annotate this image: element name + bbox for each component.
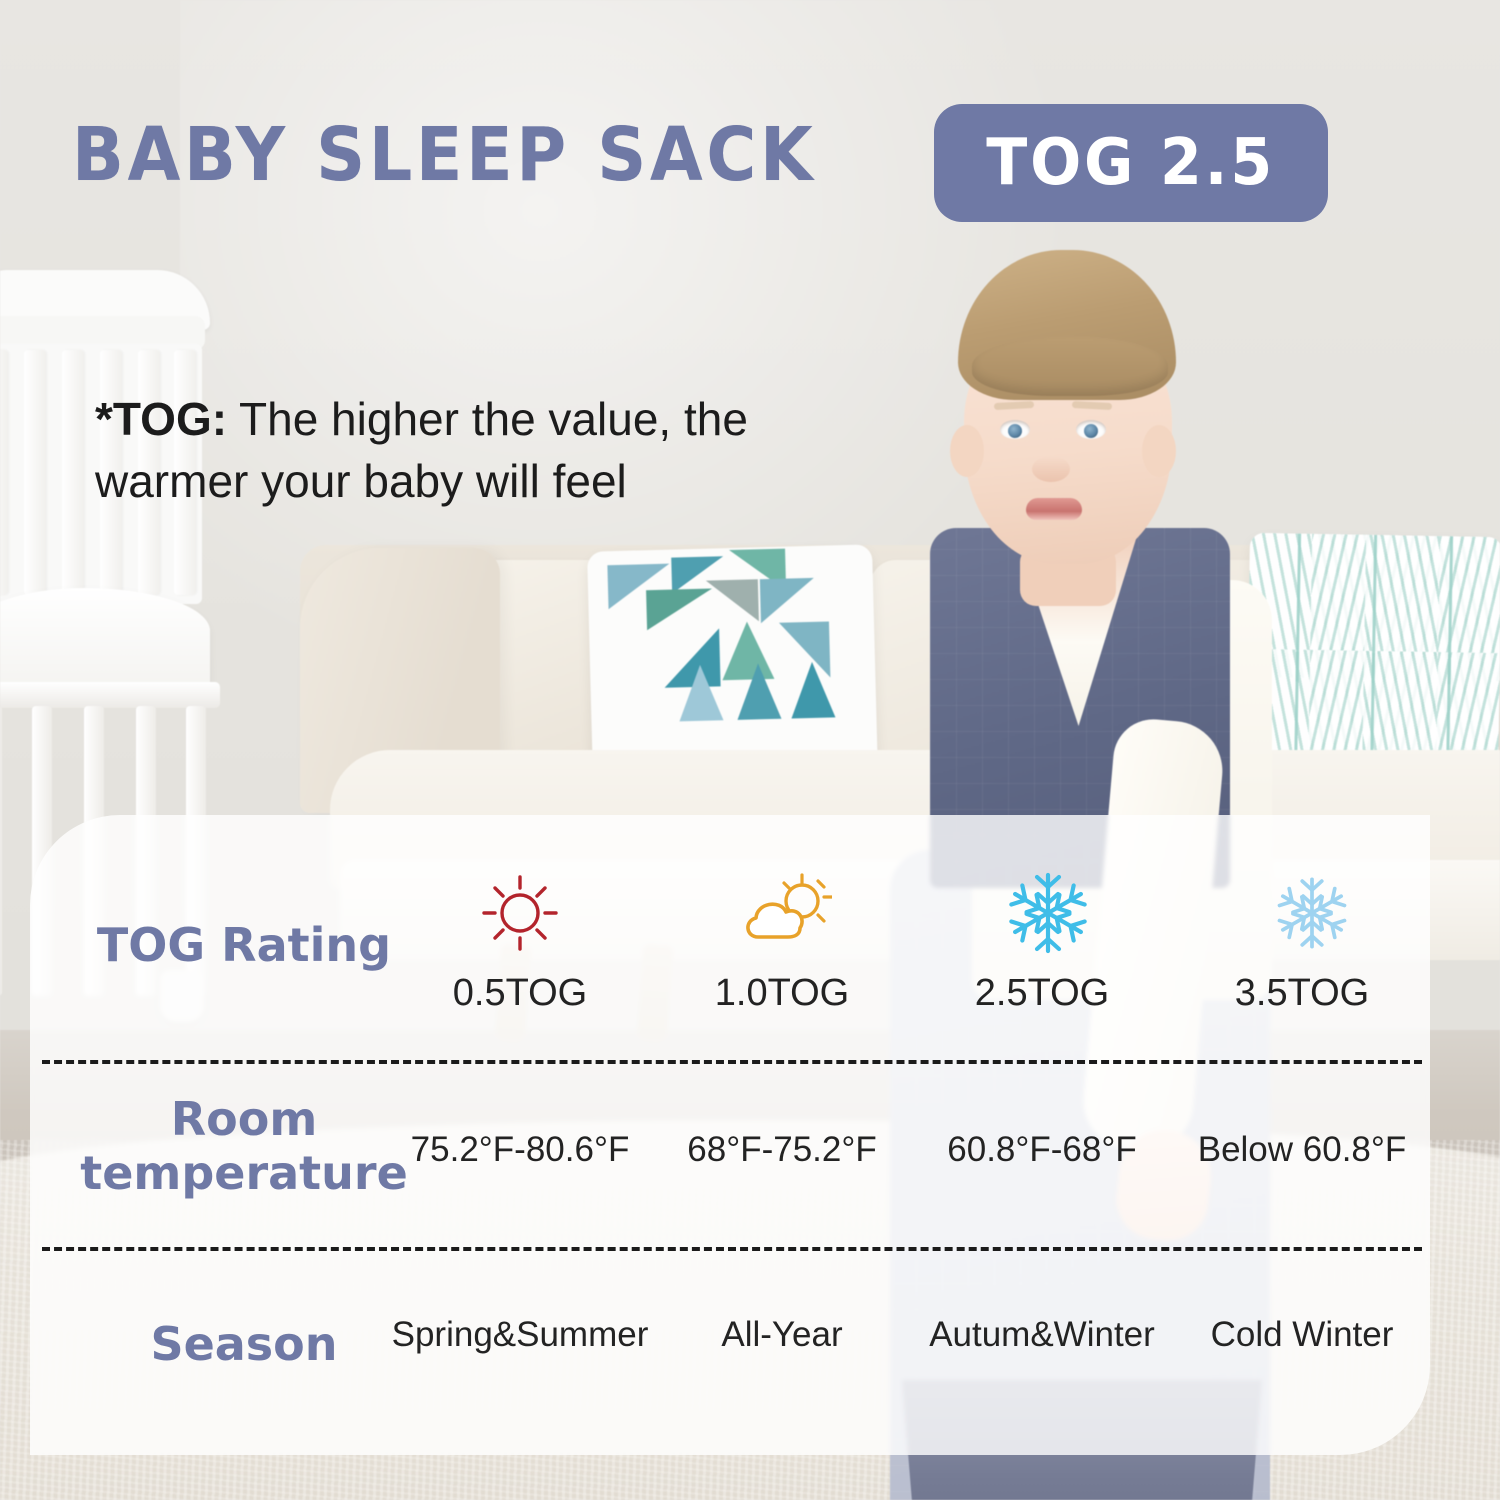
cell-temperature-1: 68°F-75.2°F xyxy=(647,1130,917,1170)
cell-temperature-0: 75.2°F-80.6°F xyxy=(385,1130,655,1170)
cell-season-2: Autum&Winter xyxy=(907,1315,1177,1355)
table-divider xyxy=(42,1060,1422,1064)
tog-description: *TOG: The higher the value, the warmer y… xyxy=(95,388,855,512)
baby-iris xyxy=(1008,424,1022,438)
pillow-triangle xyxy=(760,578,815,623)
cloud-sun-icon xyxy=(736,863,836,963)
crib-slat xyxy=(62,350,84,595)
baby-iris xyxy=(1084,424,1098,438)
page-title: BABY SLEEP SACK xyxy=(72,112,816,198)
cell-tog-0: 0.5TOG xyxy=(405,972,635,1015)
baby-ear xyxy=(1142,425,1176,477)
infographic-canvas: BABY SLEEP SACK TOG 2.5 *TOG: The higher… xyxy=(0,0,1500,1500)
baby-eye xyxy=(1076,420,1106,439)
row-label-room-line2: temperature xyxy=(64,1146,424,1200)
baby-eye xyxy=(1000,420,1030,439)
row-label-room-temperature: Room temperature xyxy=(64,1092,424,1201)
pillow-triangle xyxy=(790,661,835,718)
tog-description-prefix: *TOG: xyxy=(95,393,227,445)
cell-tog-3: 3.5TOG xyxy=(1187,972,1417,1015)
row-label-season: Season xyxy=(64,1317,424,1371)
crib-front-rail xyxy=(0,682,220,708)
crib-slat xyxy=(24,350,46,595)
pillow-triangle xyxy=(706,579,759,622)
pillow-triangle xyxy=(736,663,781,720)
snowflake-light-icon xyxy=(1262,863,1362,963)
cell-tog-1: 1.0TOG xyxy=(667,972,897,1015)
baby-ear xyxy=(950,425,984,477)
cell-season-0: Spring&Summer xyxy=(385,1315,655,1355)
cell-season-3: Cold Winter xyxy=(1167,1315,1437,1355)
cell-temperature-3: Below 60.8°F xyxy=(1167,1130,1437,1170)
tog-comparison-table: TOG Rating Room temperature Season xyxy=(30,815,1430,1455)
cell-season-1: All-Year xyxy=(647,1315,917,1355)
table-divider xyxy=(42,1247,1422,1251)
snowflake-icon xyxy=(998,863,1098,963)
baby-mouth xyxy=(1026,498,1082,520)
baby-hair-fringe xyxy=(972,336,1168,396)
tog-badge-label: TOG 2.5 xyxy=(987,126,1276,200)
cell-tog-2: 2.5TOG xyxy=(927,972,1157,1015)
triangle-pattern-pillow xyxy=(587,544,878,781)
pillow-triangle xyxy=(678,664,723,721)
row-label-tog-rating: TOG Rating xyxy=(64,918,424,972)
crib-slat xyxy=(0,350,8,595)
row-label-room-line1: Room xyxy=(64,1092,424,1146)
sun-icon xyxy=(470,863,570,963)
cell-temperature-2: 60.8°F-68°F xyxy=(907,1130,1177,1170)
crib-leg xyxy=(0,706,2,996)
baby-nose xyxy=(1032,456,1070,482)
tog-badge: TOG 2.5 xyxy=(934,104,1328,222)
pillow-triangle xyxy=(646,589,713,631)
